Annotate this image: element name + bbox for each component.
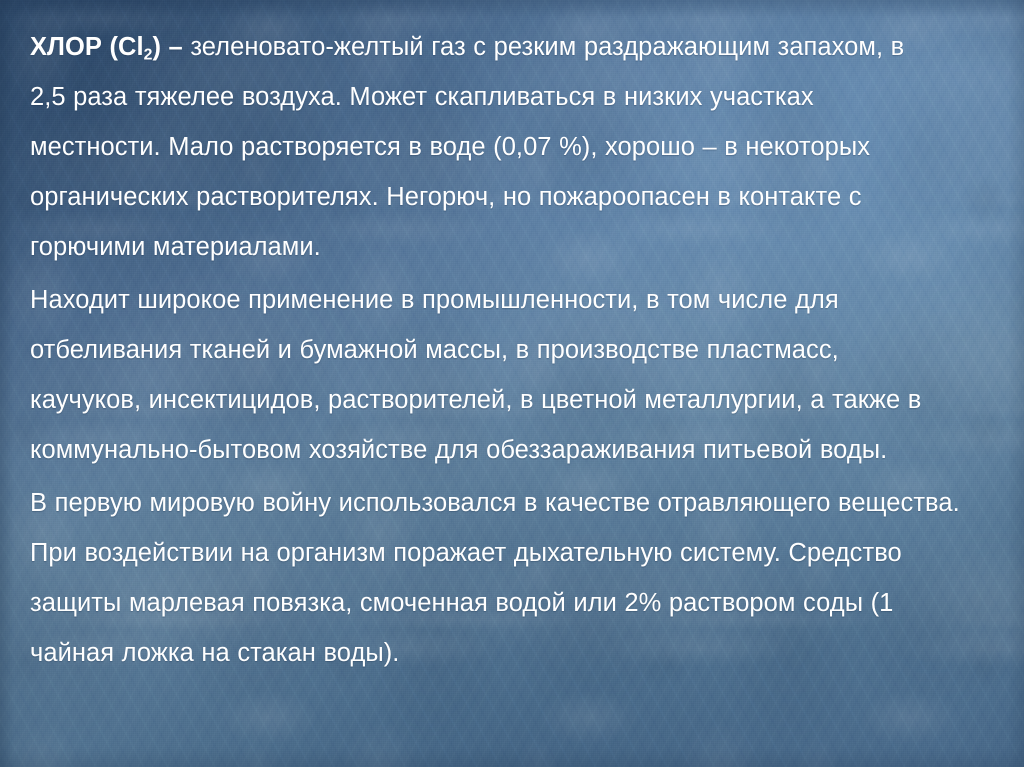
chlorine-term-head: ХЛОР (Cl [30, 33, 144, 61]
chlorine-term-tail: ) – [152, 33, 182, 61]
paragraph-industrial-use: Находит широкое применение в промышленно… [30, 275, 936, 475]
slide-text-body: ХЛОР (Cl2) – зеленовато-желтый газ с рез… [0, 0, 1024, 767]
presentation-slide: ХЛОР (Cl2) – зеленовато-желтый газ с рез… [0, 0, 1024, 767]
chlorine-term-label: ХЛОР (Cl2) – [30, 33, 183, 61]
paragraph-definition: ХЛОР (Cl2) – зеленовато-желтый газ с рез… [30, 22, 946, 272]
paragraph-wartime-and-protection: В первую мировую войну использовался в к… [30, 478, 980, 678]
paragraph-definition-text: зеленовато-желтый газ с резким раздражаю… [30, 33, 904, 261]
